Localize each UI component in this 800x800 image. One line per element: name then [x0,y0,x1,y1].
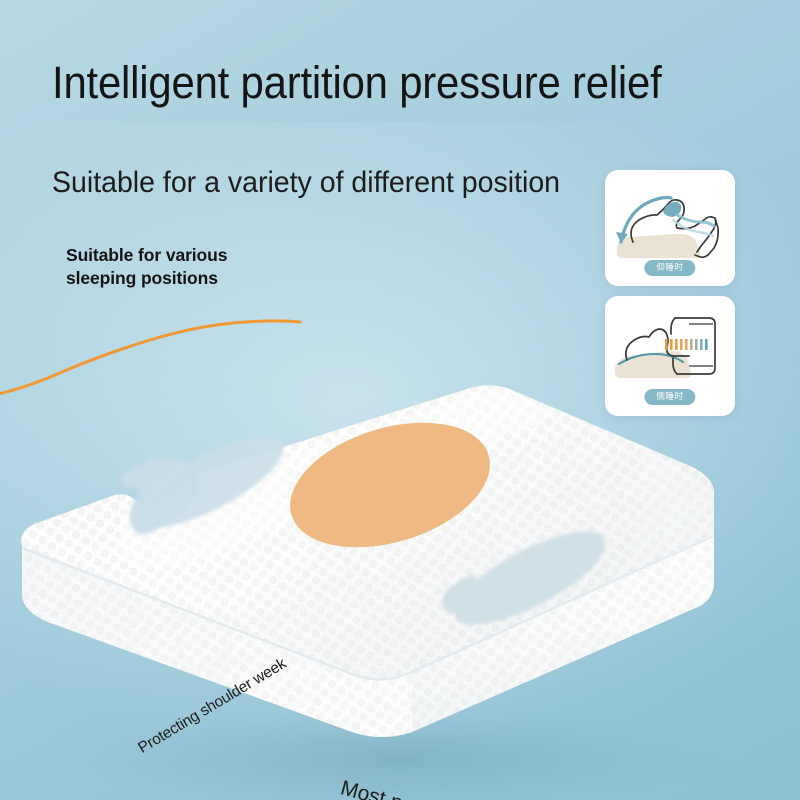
product-marketing-image: Intelligent partition pressure relief Su… [0,0,800,800]
feature-caption: Suitable for various sleeping positions [66,244,227,290]
card-label-supine: 仰睡时 [644,260,695,276]
feature-caption-line-1: Suitable for various [66,244,227,267]
feature-caption-line-2: sleeping positions [66,267,227,290]
subtitle: Suitable for a variety of different posi… [52,166,641,199]
sleeping-position-card-supine[interactable]: 仰睡时 [605,170,735,286]
pillow-product-illustration: Protecting shoulder week Most neck Prote… [0,300,800,800]
contour-accent-line [0,321,300,395]
page-title: Intelligent partition pressure relief [52,59,722,108]
